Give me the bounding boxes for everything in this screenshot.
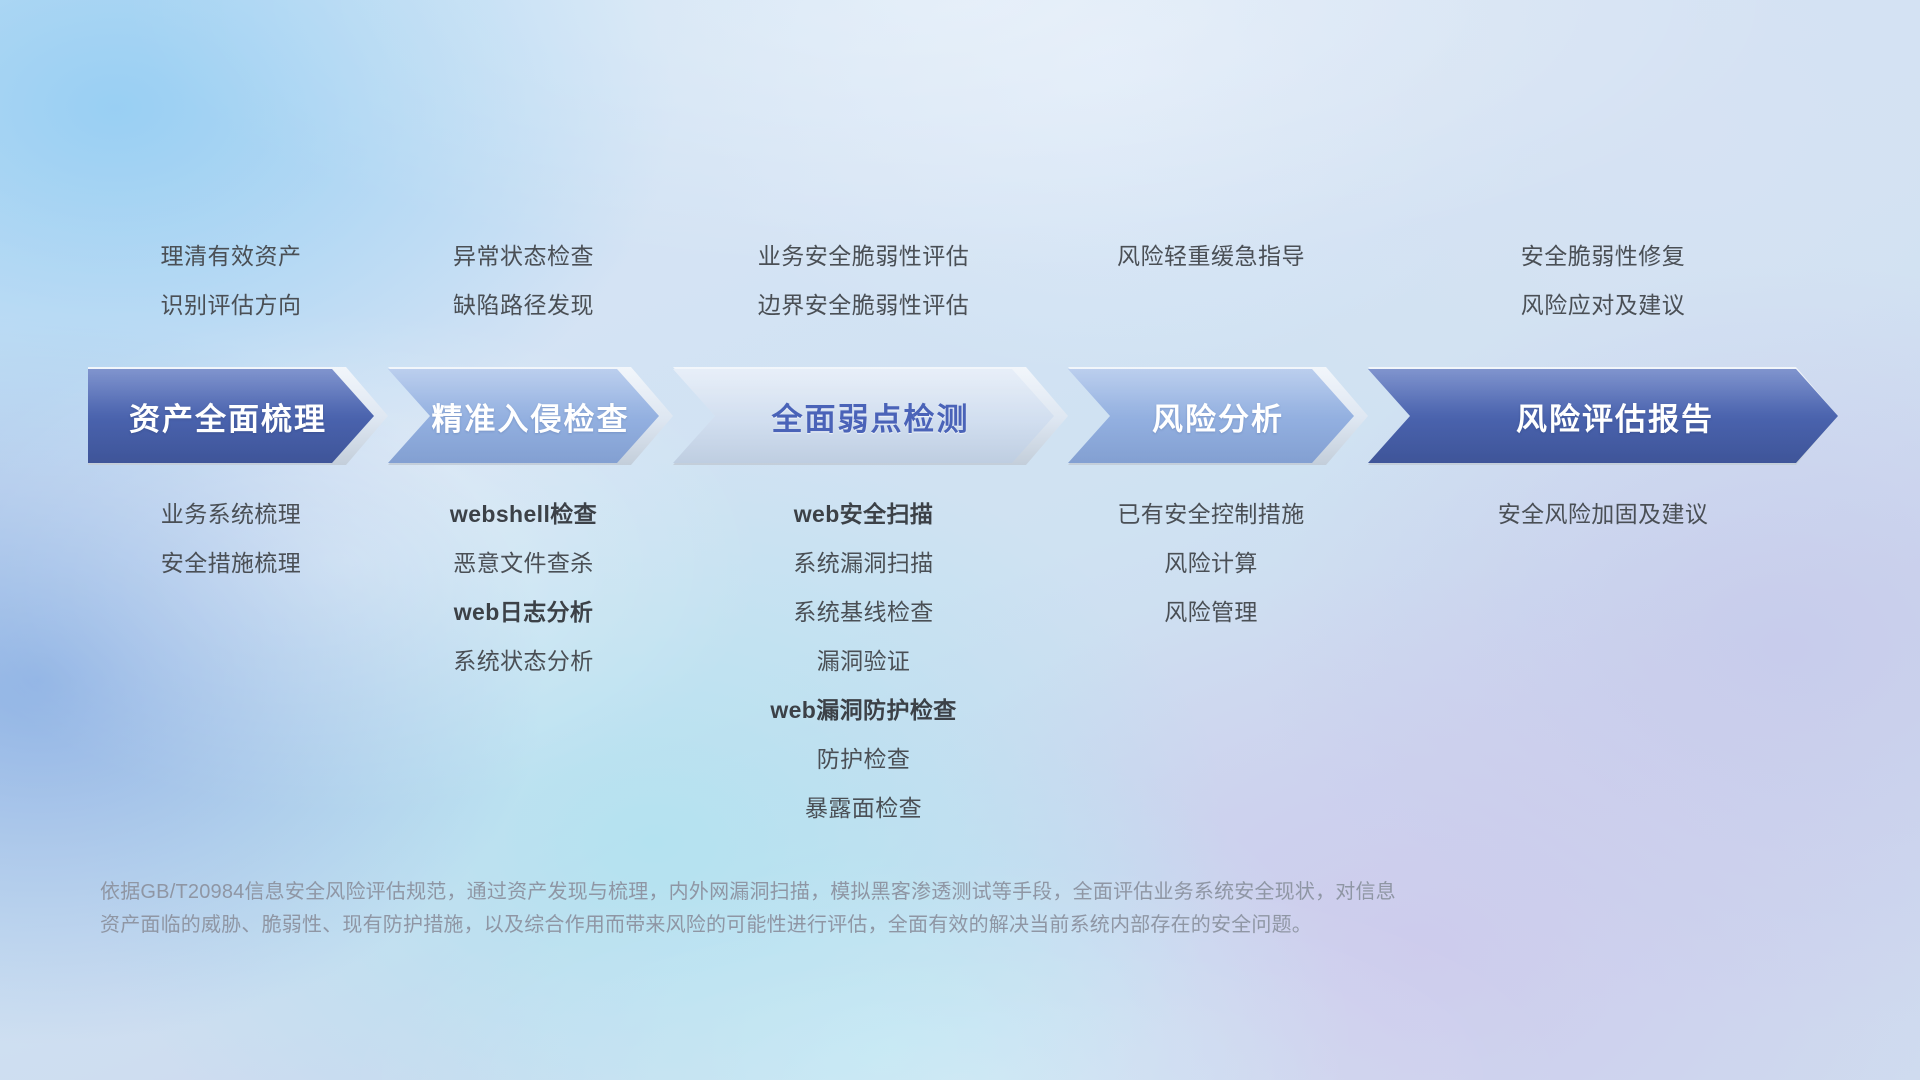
bottom-label: 已有安全控制措施 — [1117, 490, 1304, 539]
process-step-weakness-detection[interactable]: 全面弱点检测 — [673, 367, 1068, 465]
top-label: 安全脆弱性修复 — [1521, 232, 1686, 281]
process-step-label: 风险分析 — [1152, 394, 1284, 439]
top-label: 边界安全脆弱性评估 — [758, 281, 970, 330]
process-arrow-band: 资产全面梳理精准入侵检查全面弱点检测风险分析风险评估报告 — [88, 367, 1838, 465]
diagram-canvas: 理清有效资产识别评估方向异常状态检查缺陷路径发现业务安全脆弱性评估边界安全脆弱性… — [0, 0, 1920, 1080]
process-step-label: 全面弱点检测 — [772, 394, 970, 439]
footer-description: 依据GB/T20984信息安全风险评估规范，通过资产发现与梳理，内外网漏洞扫描，… — [100, 876, 1610, 942]
bottom-label: 系统基线检查 — [793, 588, 933, 637]
footer-line-2: 资产面临的威胁、脆弱性、现有防护措施，以及综合作用而带来风险的可能性进行评估，全… — [100, 909, 1610, 942]
process-step-label: 资产全面梳理 — [129, 394, 327, 439]
top-label: 风险轻重缓急指导 — [1117, 232, 1305, 281]
top-label: 异常状态检查 — [453, 232, 594, 281]
process-step-asset-inventory[interactable]: 资产全面梳理 — [88, 367, 388, 465]
bottom-label: 恶意文件查杀 — [453, 539, 593, 588]
top-label-group-risk-report: 安全脆弱性修复风险应对及建议 — [1343, 232, 1863, 330]
bottom-label: 系统漏洞扫描 — [793, 539, 933, 588]
bottom-label: 防护检查 — [817, 735, 911, 784]
bottom-label: 漏洞验证 — [817, 637, 911, 686]
process-step-label: 风险评估报告 — [1516, 394, 1714, 439]
bottom-label-group-risk-report: 安全风险加固及建议 — [1343, 490, 1863, 539]
process-step-label: 精准入侵检查 — [432, 394, 630, 439]
top-label: 风险应对及建议 — [1521, 281, 1686, 330]
process-step-risk-analysis[interactable]: 风险分析 — [1068, 367, 1368, 465]
bottom-label: 系统状态分析 — [453, 637, 593, 686]
process-step-intrusion-check[interactable]: 精准入侵检查 — [388, 367, 673, 465]
bottom-label: 风险计算 — [1164, 539, 1258, 588]
bottom-label: web安全扫描 — [794, 490, 934, 539]
top-label: 业务安全脆弱性评估 — [758, 232, 970, 281]
process-step-risk-report[interactable]: 风险评估报告 — [1368, 367, 1838, 465]
bottom-labels-row: 业务系统梳理安全措施梳理webshell检查恶意文件查杀web日志分析系统状态分… — [0, 490, 1920, 820]
bottom-label: 安全风险加固及建议 — [1498, 490, 1709, 539]
bottom-label: web日志分析 — [454, 588, 594, 637]
bottom-label: web漏洞防护检查 — [770, 686, 956, 735]
top-label: 缺陷路径发现 — [453, 281, 594, 330]
bottom-label: 风险管理 — [1164, 588, 1258, 637]
bottom-label: 暴露面检查 — [805, 784, 922, 833]
top-labels-row: 理清有效资产识别评估方向异常状态检查缺陷路径发现业务安全脆弱性评估边界安全脆弱性… — [0, 232, 1920, 342]
bottom-label: webshell检查 — [450, 490, 597, 539]
footer-line-1: 依据GB/T20984信息安全风险评估规范，通过资产发现与梳理，内外网漏洞扫描，… — [100, 876, 1610, 909]
